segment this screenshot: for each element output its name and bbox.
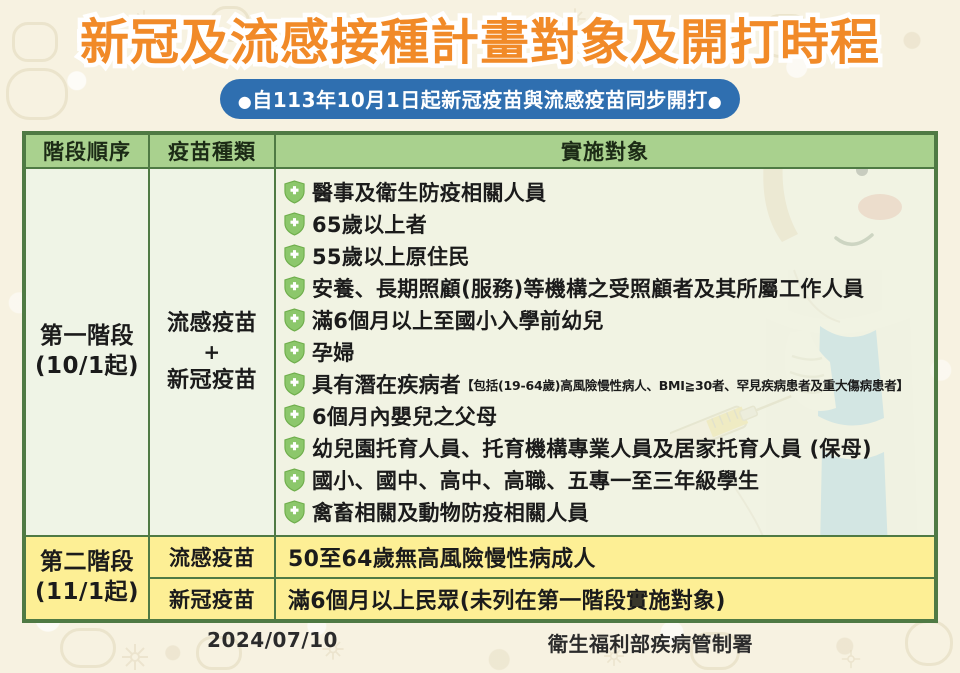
shield-check-icon: [284, 500, 305, 524]
shield-check-icon: [284, 244, 305, 268]
stage-one-label-cell: 第一階段 (10/1起): [25, 168, 149, 536]
subtitle-banner: ●自113年10月1日起新冠疫苗與流感疫苗同步開打●: [220, 79, 740, 119]
target-list: 醫事及衛生防疫相關人員 65歲以上者: [282, 176, 934, 528]
table-row-stage-two-flu: 第二階段 (11/1起) 流感疫苗 50至64歲無高風險慢性病成人: [25, 536, 935, 578]
list-item-label: 安養、長期照顧(服務)等機構之受照顧者及其所屬工作人員: [312, 273, 864, 303]
stage-two-vaccine-flu: 流感疫苗: [149, 536, 275, 578]
shield-check-icon: [284, 372, 305, 396]
footer: 2024/07/10 衛生福利部疾病管制署: [0, 628, 960, 657]
list-item: 55歲以上原住民: [282, 240, 934, 272]
list-item-label: 醫事及衛生防疫相關人員: [312, 177, 546, 207]
list-item-label: 具有潛在疾病者: [312, 369, 461, 399]
list-item: 孕婦: [282, 336, 934, 368]
list-item-label: 滿6個月以上至國小入學前幼兒: [312, 305, 604, 335]
stage-one-target-cell: 醫事及衛生防疫相關人員 65歲以上者: [275, 168, 935, 536]
shield-check-icon: [284, 180, 305, 204]
list-item: 具有潛在疾病者 【包括(19-64歲)高風險慢性病人、BMI≧30者、罕見疾病患…: [282, 368, 934, 400]
table-row-stage-one: 第一階段 (10/1起) 流感疫苗 + 新冠疫苗: [25, 168, 935, 536]
subtitle-text: 自113年10月1日起新冠疫苗與流感疫苗同步開打: [252, 88, 708, 112]
page-title: 新冠及流感接種計畫對象及開打時程: [80, 12, 880, 73]
list-item: 國小、國中、高中、高職、五專一至三年級學生: [282, 464, 934, 496]
list-item: 6個月內嬰兒之父母: [282, 400, 934, 432]
schedule-table: 階段順序 疫苗種類 實施對象 第一階段 (10/1起) 流感疫苗 + 新冠疫苗: [22, 131, 938, 623]
header-block: 新冠及流感接種計畫對象及開打時程 ●自113年10月1日起新冠疫苗與流感疫苗同步…: [0, 12, 960, 119]
stage-two-vaccine-covid: 新冠疫苗: [149, 578, 275, 620]
bullet-dot-right-icon: ●: [708, 92, 722, 111]
list-item: 禽畜相關及動物防疫相關人員: [282, 496, 934, 528]
shield-check-icon: [284, 468, 305, 492]
shield-check-icon: [284, 212, 305, 236]
column-header-vaccine: 疫苗種類: [149, 134, 275, 168]
shield-check-icon: [284, 436, 305, 460]
stage-two-target-covid: 滿6個月以上民眾(未列在第一階段實施對象): [275, 578, 935, 620]
stage-two-target-flu: 50至64歲無高風險慢性病成人: [275, 536, 935, 578]
list-item-note: 【包括(19-64歲)高風險慢性病人、BMI≧30者、罕見疾病患者及重大傷病患者…: [461, 375, 909, 394]
shield-check-icon: [284, 308, 305, 332]
table-row-stage-two-covid: 新冠疫苗 滿6個月以上民眾(未列在第一階段實施對象): [25, 578, 935, 620]
shield-check-icon: [284, 276, 305, 300]
stage-one-date: (10/1起): [26, 352, 148, 382]
stage-one-name: 第一階段: [26, 322, 148, 352]
stage-two-date: (11/1起): [26, 578, 148, 608]
shield-check-icon: [284, 340, 305, 364]
list-item: 滿6個月以上至國小入學前幼兒: [282, 304, 934, 336]
table-header-row: 階段順序 疫苗種類 實施對象: [25, 134, 935, 168]
stage-one-vaccine-flu: 流感疫苗: [150, 309, 274, 339]
stage-one-vaccine-cell: 流感疫苗 + 新冠疫苗: [149, 168, 275, 536]
list-item: 幼兒園托育人員、托育機構專業人員及居家托育人員 (保母): [282, 432, 934, 464]
list-item: 安養、長期照顧(服務)等機構之受照顧者及其所屬工作人員: [282, 272, 934, 304]
shield-check-icon: [284, 404, 305, 428]
plus-icon: +: [150, 339, 274, 366]
agency-name: 衛生福利部疾病管制署: [548, 628, 753, 657]
publish-date: 2024/07/10: [207, 628, 338, 657]
list-item-label: 孕婦: [312, 337, 355, 367]
column-header-target: 實施對象: [275, 134, 935, 168]
list-item-label: 6個月內嬰兒之父母: [312, 401, 497, 431]
list-item: 醫事及衛生防疫相關人員: [282, 176, 934, 208]
bullet-dot-left-icon: ●: [238, 92, 252, 111]
stage-two-name: 第二階段: [26, 548, 148, 578]
list-item-label: 幼兒園托育人員、托育機構專業人員及居家托育人員 (保母): [312, 433, 872, 463]
list-item-label: 65歲以上者: [312, 209, 427, 239]
column-header-stage: 階段順序: [25, 134, 149, 168]
stage-one-vaccine-covid: 新冠疫苗: [150, 366, 274, 396]
list-item-label: 禽畜相關及動物防疫相關人員: [312, 497, 589, 527]
list-item: 65歲以上者: [282, 208, 934, 240]
list-item-label: 55歲以上原住民: [312, 241, 470, 271]
list-item-label: 國小、國中、高中、高職、五專一至三年級學生: [312, 465, 759, 495]
stage-two-label-cell: 第二階段 (11/1起): [25, 536, 149, 620]
